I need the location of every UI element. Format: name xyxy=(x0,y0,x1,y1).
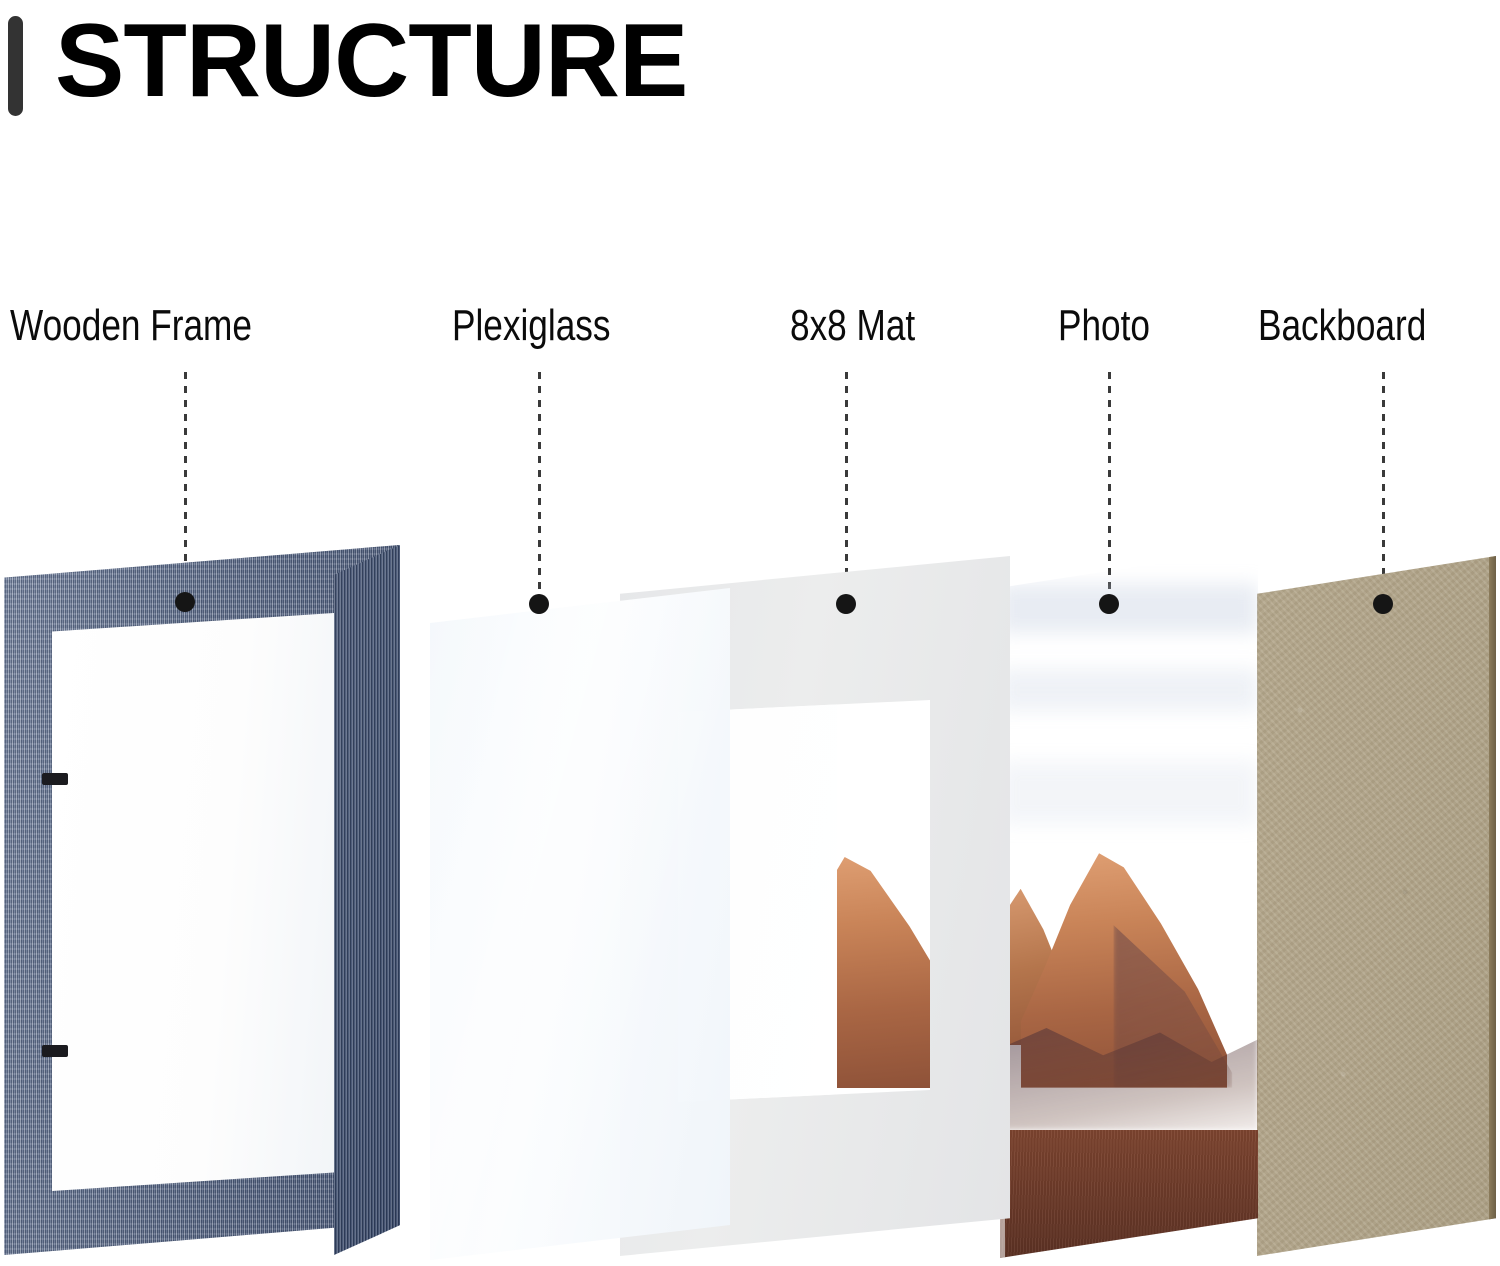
photo-cloud-band-lower xyxy=(1000,761,1258,825)
backboard-thickness-edge xyxy=(1489,556,1496,1256)
layer-plexiglass xyxy=(430,588,730,1260)
leader-dot-mat xyxy=(836,594,856,614)
frame-right-rail xyxy=(334,545,400,1255)
frame-opening xyxy=(52,613,334,1191)
leader-dot-photo xyxy=(1099,594,1119,614)
exploded-view-diagram xyxy=(0,0,1500,1266)
leader-dot-wooden-frame xyxy=(175,592,195,612)
leader-dot-backboard xyxy=(1373,594,1393,614)
photo-cloud-band-mid xyxy=(1000,669,1258,712)
photo-cloud-band-upper xyxy=(1000,584,1258,634)
layer-wooden-frame xyxy=(4,545,399,1255)
leader-dot-plexiglass xyxy=(529,594,549,614)
plexiglass-sheen xyxy=(430,588,730,1260)
frame-clip-upper xyxy=(42,773,68,785)
photo-desert-ground xyxy=(1000,1130,1258,1258)
frame-clip-lower xyxy=(42,1045,68,1057)
layer-backboard xyxy=(1257,556,1496,1256)
layer-photo xyxy=(1000,548,1258,1258)
